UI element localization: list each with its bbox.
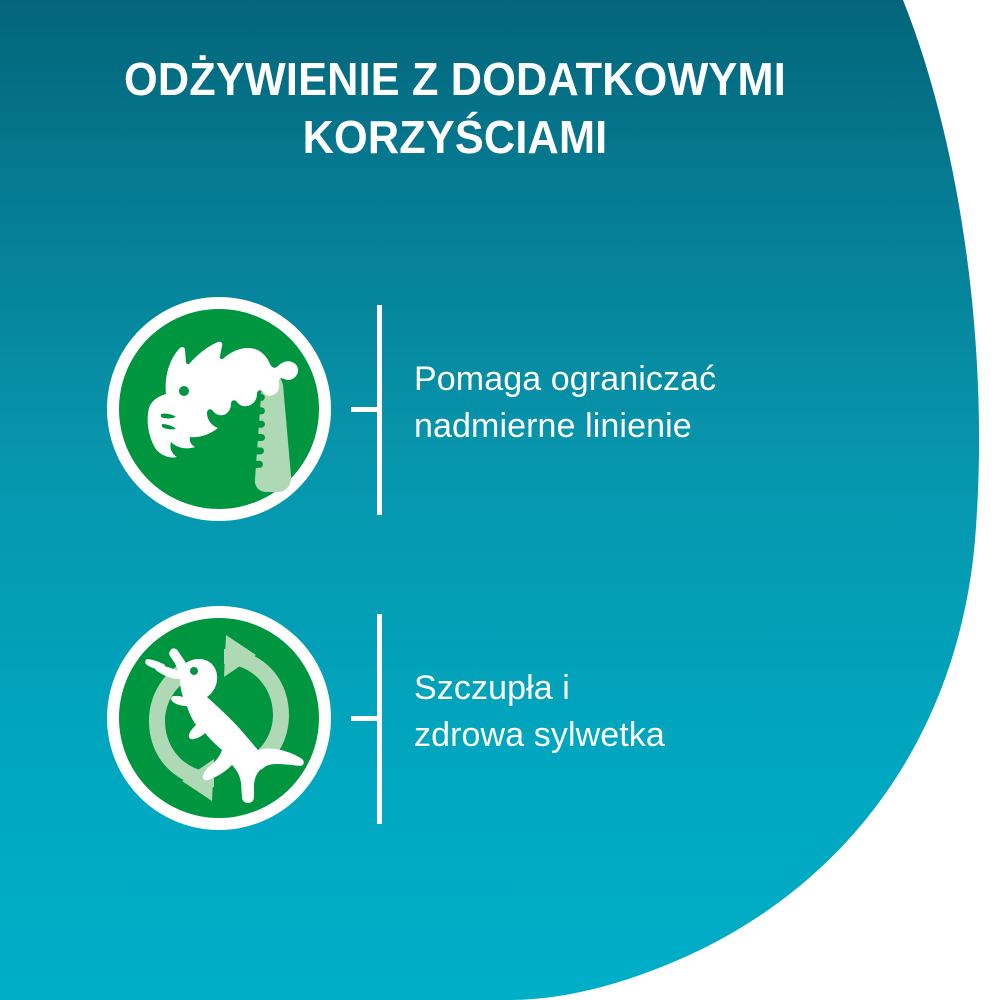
connector-tick bbox=[351, 407, 381, 412]
connector-line bbox=[350, 296, 390, 522]
page-title: ODŻYWIENIE Z DODATKOWYMI KORZYŚCIAMI bbox=[65, 50, 845, 166]
benefit-row: Pomaga ograniczać nadmierne linienie bbox=[0, 296, 1000, 526]
benefit-row: Szczupła i zdrowa sylwetka bbox=[0, 605, 1000, 835]
leaping-cat-with-cycle-arrows-icon bbox=[106, 605, 332, 831]
connector-line bbox=[350, 605, 390, 831]
benefit-label: Pomaga ograniczać nadmierne linienie bbox=[414, 356, 834, 450]
promo-banner: ODŻYWIENIE Z DODATKOWYMI KORZYŚCIAMI bbox=[0, 0, 1000, 1000]
connector-tick bbox=[351, 716, 381, 721]
cat-head-with-comb-icon bbox=[106, 296, 332, 522]
benefit-label: Szczupła i zdrowa sylwetka bbox=[414, 665, 834, 759]
